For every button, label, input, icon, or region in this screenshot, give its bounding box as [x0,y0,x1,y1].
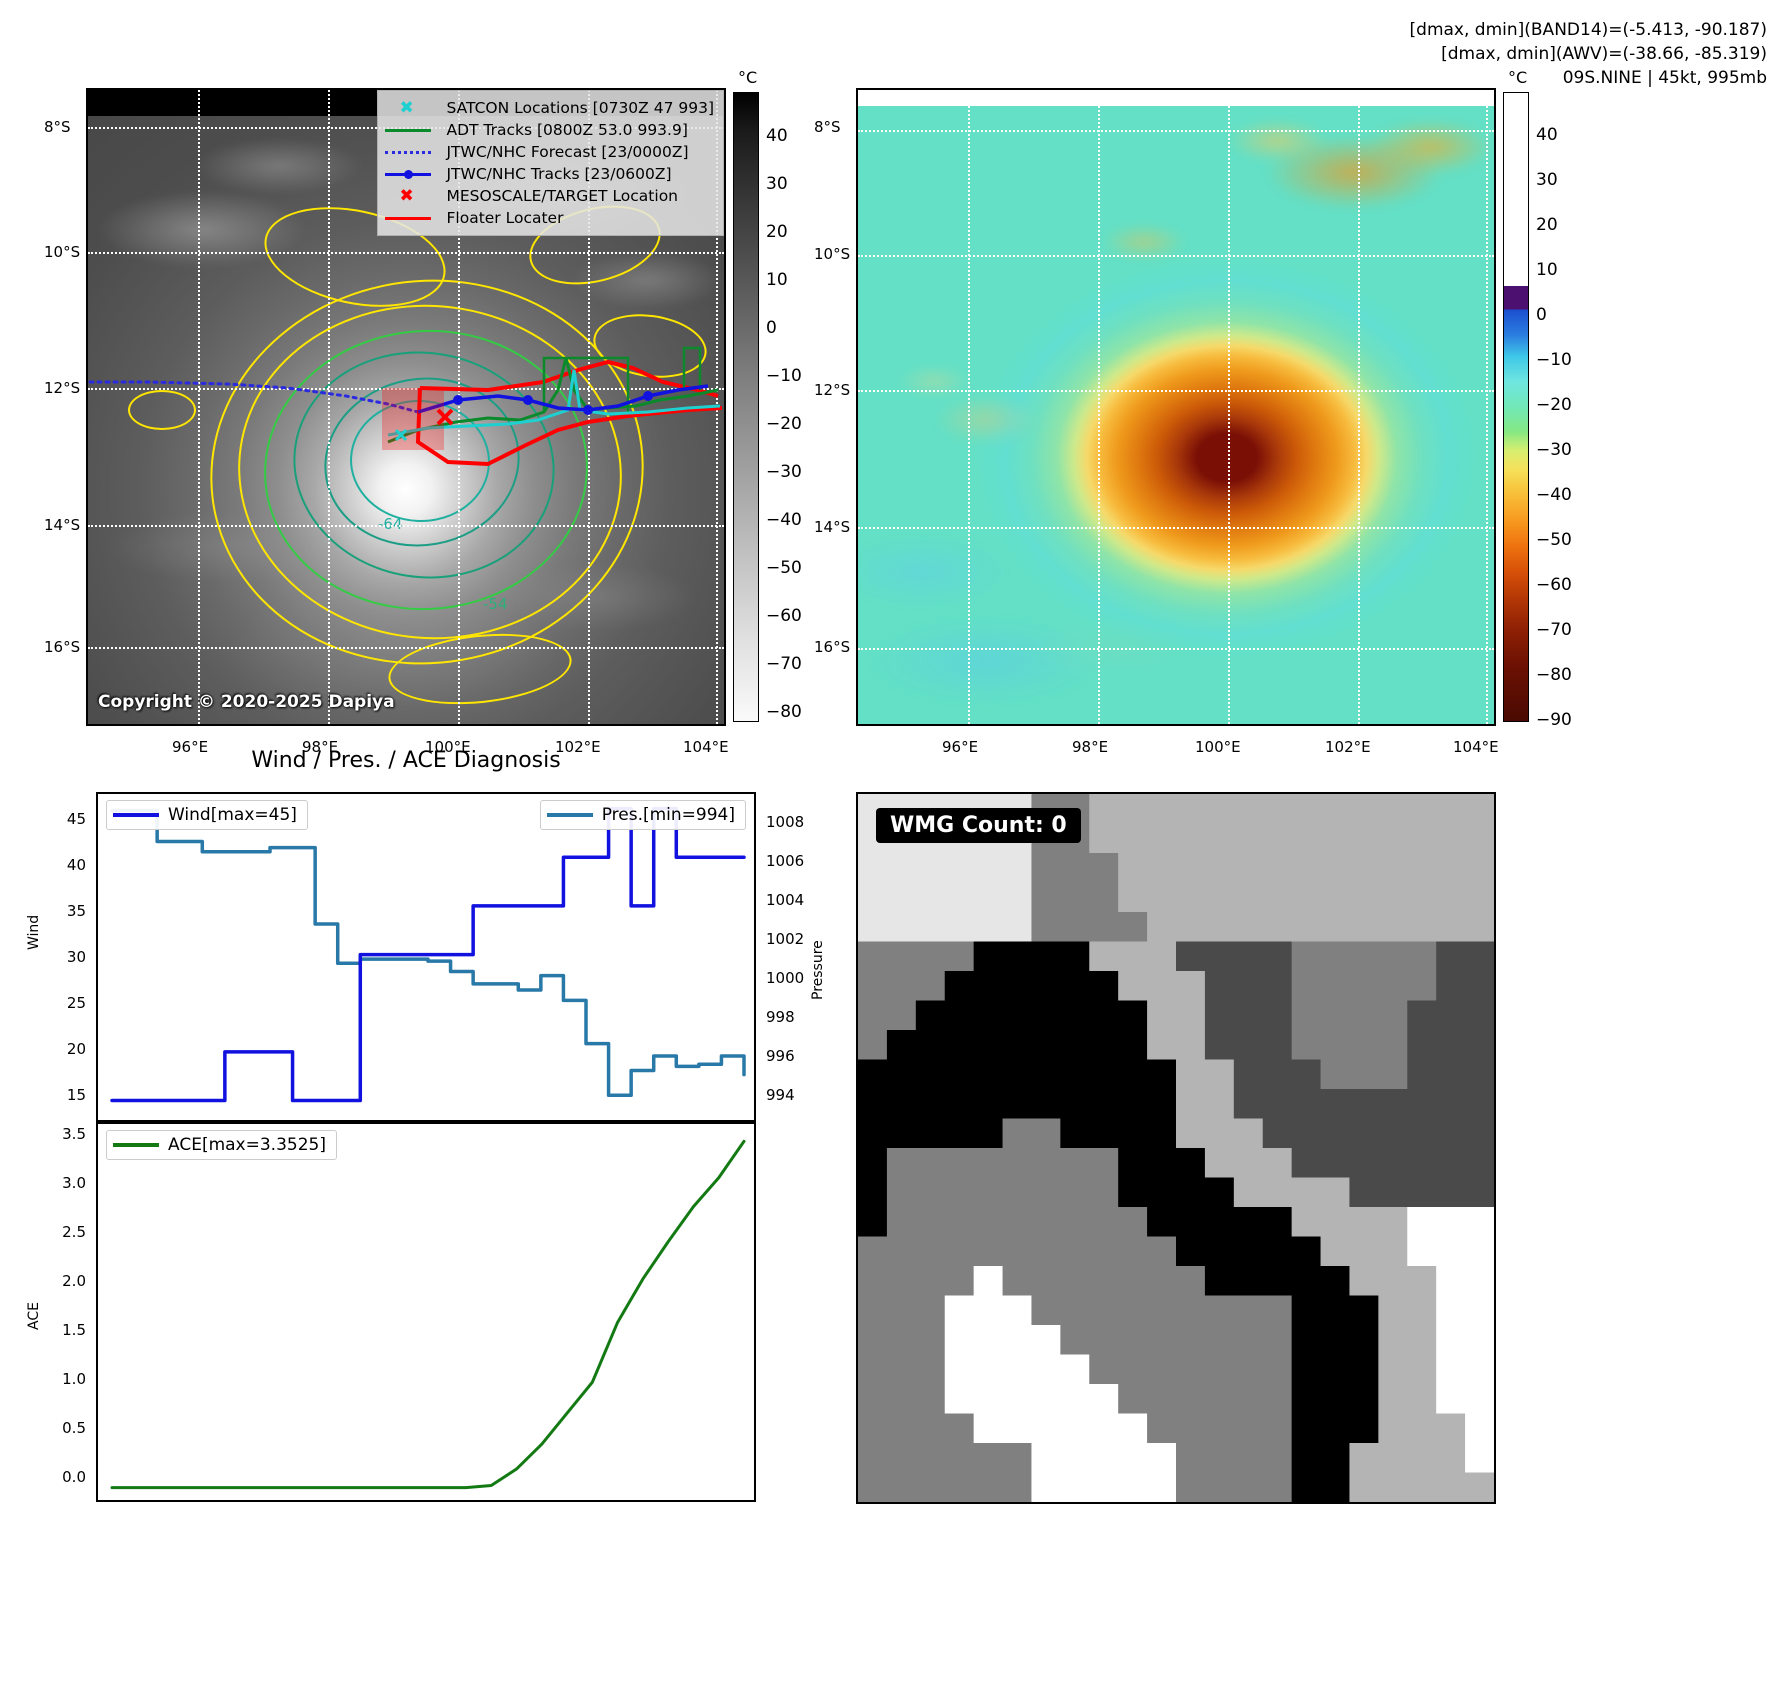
wind-pressure-chart[interactable]: Wind[max=45] Pres.[min=994] [96,792,756,1122]
cb-right-tick-11: −70 [1536,620,1572,640]
legend-item-mesoscale: ✖ MESOSCALE/TARGET Location [385,185,714,207]
wind-ytick-20: 20 [42,1040,86,1058]
legend-label-floater: Floater Locater [446,207,714,229]
wind-legend: Wind[max=45] [106,800,308,830]
cb-left-tick-5: −10 [766,366,802,386]
wind-ytick-15: 15 [42,1086,86,1104]
cb-left-tick-0: 40 [766,126,788,146]
cb-right-tick-6: −20 [1536,395,1572,415]
ace-ytick-25: 2.5 [34,1223,86,1241]
line-with-dot-icon [385,167,431,181]
cb-right-tick-4: 0 [1536,305,1547,325]
ir-lat-label-14s: 14°S [44,516,80,534]
eir-lat-label-16s: 16°S [814,638,850,656]
wmg-panel[interactable]: WMG Count: 0 [856,792,1496,1504]
cb-left-tick-12: −80 [766,702,802,722]
legend-label-tracks: JTWC/NHC Tracks [23/0600Z] [446,163,714,185]
copyright-text: Copyright © 2020-2025 Dapiya [98,692,395,712]
pressure-legend-label: Pres.[min=994] [602,805,735,825]
x-marker-icon: ✖ [385,189,431,203]
solid-line-icon [385,211,431,225]
eir-lat-label-14s: 14°S [814,518,850,536]
wind-pressure-plot-area [98,794,754,1120]
cb-right-tick-3: 10 [1536,260,1558,280]
wind-axis-label: Wind [26,915,42,950]
ir-lat-label-12s: 12°S [44,379,80,397]
ir-image: -64 -54 [88,90,724,724]
wind-legend-label: Wind[max=45] [168,805,297,825]
wind-ytick-25: 25 [42,994,86,1012]
pres-ytick-1006: 1006 [766,852,804,870]
cb-right-tick-0: 40 [1536,125,1558,145]
cb-left-tick-6: −20 [766,414,802,434]
ir-lat-label-8s: 8°S [44,118,71,136]
pressure-legend-swatch [547,813,593,817]
wind-legend-swatch [113,813,159,817]
pres-ytick-1008: 1008 [766,813,804,831]
x-marker-icon: ✖ [385,101,431,115]
storm-summary: 09S.NINE | 45kt, 995mb [1410,66,1767,90]
ace-ytick-0: 0.0 [34,1468,86,1486]
cb-left-tick-8: −40 [766,510,802,530]
cb-left-tick-7: −30 [766,462,802,482]
ace-plot-area [98,1124,754,1500]
ir-lat-label-16s: 16°S [44,638,80,656]
pres-ytick-994: 994 [766,1086,795,1104]
pres-ytick-1004: 1004 [766,891,804,909]
dotted-line-icon [385,145,431,159]
eir-lat-label-8s: 8°S [814,118,841,136]
cb-left-tick-2: 20 [766,222,788,242]
ace-ytick-15: 1.5 [34,1321,86,1339]
eir-lon-label-104e: 104°E [1453,738,1499,756]
stats-awv: [dmax, dmin](AWV)=(-38.66, -85.319) [1410,42,1767,66]
legend-item-adt: ADT Tracks [0800Z 53.0 993.9] [385,119,714,141]
pres-ytick-996: 996 [766,1047,795,1065]
eir-lat-label-12s: 12°S [814,381,850,399]
wind-ytick-45: 45 [42,810,86,828]
legend-item-floater: Floater Locater [385,207,714,229]
ace-legend-swatch [113,1143,159,1147]
cb-left-tick-1: 30 [766,174,788,194]
cb-left-tick-3: 10 [766,270,788,290]
cb-right-tick-2: 20 [1536,215,1558,235]
enhanced-ir-panel[interactable] [856,88,1496,726]
solid-line-icon [385,123,431,137]
wmg-count-badge: WMG Count: 0 [876,808,1081,843]
eir-lat-label-10s: 10°S [814,245,850,263]
wind-ytick-35: 35 [42,902,86,920]
ace-ytick-35: 3.5 [34,1125,86,1143]
pres-ytick-998: 998 [766,1008,795,1026]
wind-ytick-30: 30 [42,948,86,966]
cb-right-tick-9: −50 [1536,530,1572,550]
ace-ytick-05: 0.5 [34,1419,86,1437]
cb-left-tick-4: 0 [766,318,777,338]
header-stats: [dmax, dmin](BAND14)=(-5.413, -90.187) [… [1410,18,1767,90]
ace-ytick-10: 1.0 [34,1370,86,1388]
cb-right-tick-13: −90 [1536,710,1572,730]
legend-item-forecast: JTWC/NHC Forecast [23/0000Z] [385,141,714,163]
stats-band14: [dmax, dmin](BAND14)=(-5.413, -90.187) [1410,18,1767,42]
cb-right-tick-7: −30 [1536,440,1572,460]
legend-item-satcon: ✖ SATCON Locations [0730Z 47 993] [385,97,714,119]
wmg-image [858,794,1494,1502]
cb-right-tick-10: −60 [1536,575,1572,595]
wind-ytick-40: 40 [42,856,86,874]
satellite-ir-panel[interactable]: -64 -54 [86,88,726,726]
cb-right-tick-12: −80 [1536,665,1572,685]
eir-lon-label-96e: 96°E [942,738,978,756]
pressure-axis-label: Pressure [810,940,826,1000]
pres-ytick-1002: 1002 [766,930,804,948]
pressure-legend: Pres.[min=994] [540,800,746,830]
diagnosis-title: Wind / Pres. / ACE Diagnosis [86,748,726,773]
ace-legend: ACE[max=3.3525] [106,1130,337,1160]
colorbar-right-unit: °C [1508,68,1527,87]
ace-ytick-30: 3.0 [34,1174,86,1192]
cb-right-tick-5: −10 [1536,350,1572,370]
ace-legend-label: ACE[max=3.3525] [168,1135,326,1155]
eir-lon-label-102e: 102°E [1325,738,1371,756]
pres-ytick-1000: 1000 [766,969,804,987]
ir-legend: ✖ SATCON Locations [0730Z 47 993] ADT Tr… [377,90,724,236]
colorbar-left-unit: °C [738,68,757,87]
legend-label-mesoscale: MESOSCALE/TARGET Location [446,185,714,207]
ace-chart[interactable]: ACE[max=3.3525] [96,1122,756,1502]
ir-lat-label-10s: 10°S [44,243,80,261]
cb-left-tick-10: −60 [766,606,802,626]
cb-right-tick-1: 30 [1536,170,1558,190]
legend-label-satcon: SATCON Locations [0730Z 47 993] [446,97,714,119]
legend-item-tracks: JTWC/NHC Tracks [23/0600Z] [385,163,714,185]
legend-label-forecast: JTWC/NHC Forecast [23/0000Z] [446,141,714,163]
legend-label-adt: ADT Tracks [0800Z 53.0 993.9] [446,119,714,141]
ace-ytick-20: 2.0 [34,1272,86,1290]
eir-lon-label-100e: 100°E [1195,738,1241,756]
cb-left-tick-11: −70 [766,654,802,674]
cb-right-tick-8: −40 [1536,485,1572,505]
eir-lon-label-98e: 98°E [1072,738,1108,756]
cb-left-tick-9: −50 [766,558,802,578]
